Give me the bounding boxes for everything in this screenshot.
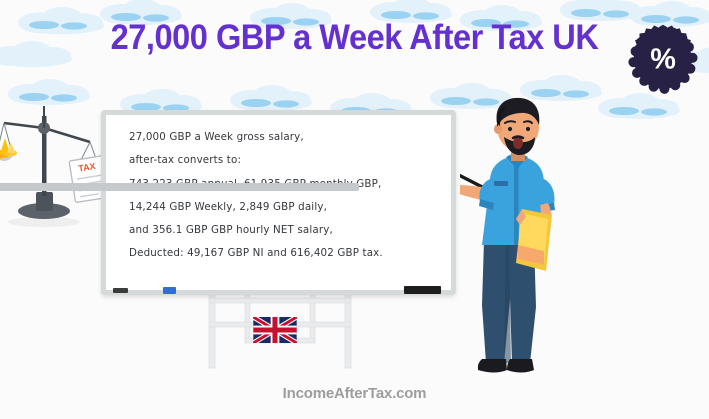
folder-icon xyxy=(516,209,552,271)
whiteboard-marker-blue-icon xyxy=(163,287,176,294)
presenter-illustration xyxy=(460,93,595,376)
whiteboard-tray xyxy=(0,183,359,191)
whiteboard-line-5: and 356.1 GBP GBP hourly NET salary, xyxy=(129,225,436,235)
uk-flag-icon xyxy=(253,317,297,343)
whiteboard-marker-dark-icon xyxy=(113,288,128,293)
page-title: 27,000 GBP a Week After Tax UK xyxy=(25,18,684,58)
whiteboard-text-block: 27,000 GBP a Week gross salary, after-ta… xyxy=(129,132,436,272)
whiteboard: 27,000 GBP a Week gross salary, after-ta… xyxy=(101,110,456,295)
percent-badge-icon: % xyxy=(627,24,699,96)
whiteboard-frame: 27,000 GBP a Week gross salary, after-ta… xyxy=(101,110,456,295)
whiteboard-line-4: 14,244 GBP Weekly, 2,849 GBP daily, xyxy=(129,202,436,212)
whiteboard-line-6: Deducted: 49,167 GBP NI and 616,402 GBP … xyxy=(129,248,436,258)
balance-scale-illustration: TAX xyxy=(0,98,116,230)
whiteboard-line-1: 27,000 GBP a Week gross salary, xyxy=(129,132,436,142)
infographic-canvas: 27,000 GBP a Week After Tax UK % xyxy=(0,0,709,419)
site-watermark: IncomeAfterTax.com xyxy=(0,385,709,402)
whiteboard-eraser-icon xyxy=(404,286,441,294)
whiteboard-line-2: after-tax converts to: xyxy=(129,155,436,165)
whiteboard-surface: 27,000 GBP a Week gross salary, after-ta… xyxy=(111,120,446,285)
percent-symbol: % xyxy=(650,44,676,76)
